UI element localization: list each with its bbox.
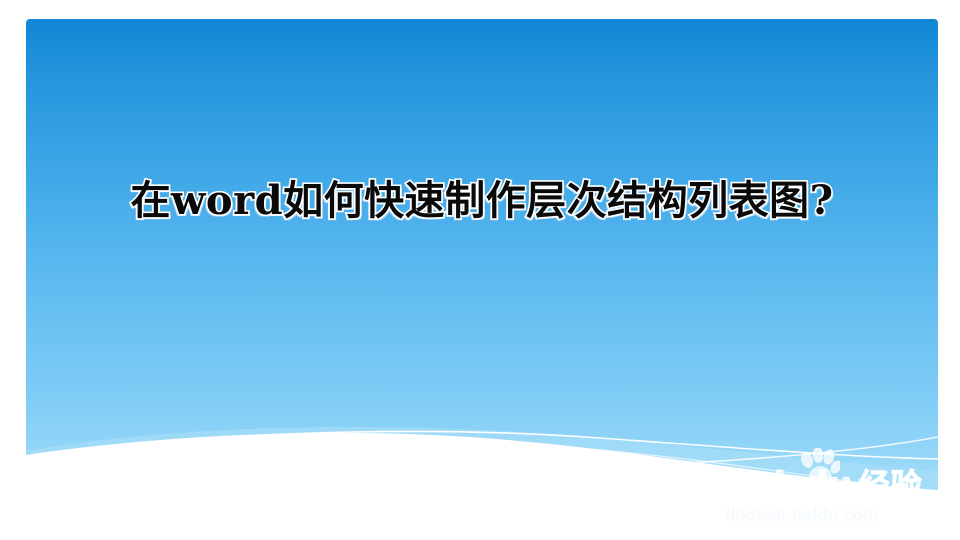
slide-canvas: 在word如何快速制作层次结构列表图? Bai du 经验 jingy [26, 19, 938, 521]
wave-decoration [26, 19, 938, 521]
slide-root: 在word如何快速制作层次结构列表图? Bai du 经验 jingy [0, 0, 960, 540]
